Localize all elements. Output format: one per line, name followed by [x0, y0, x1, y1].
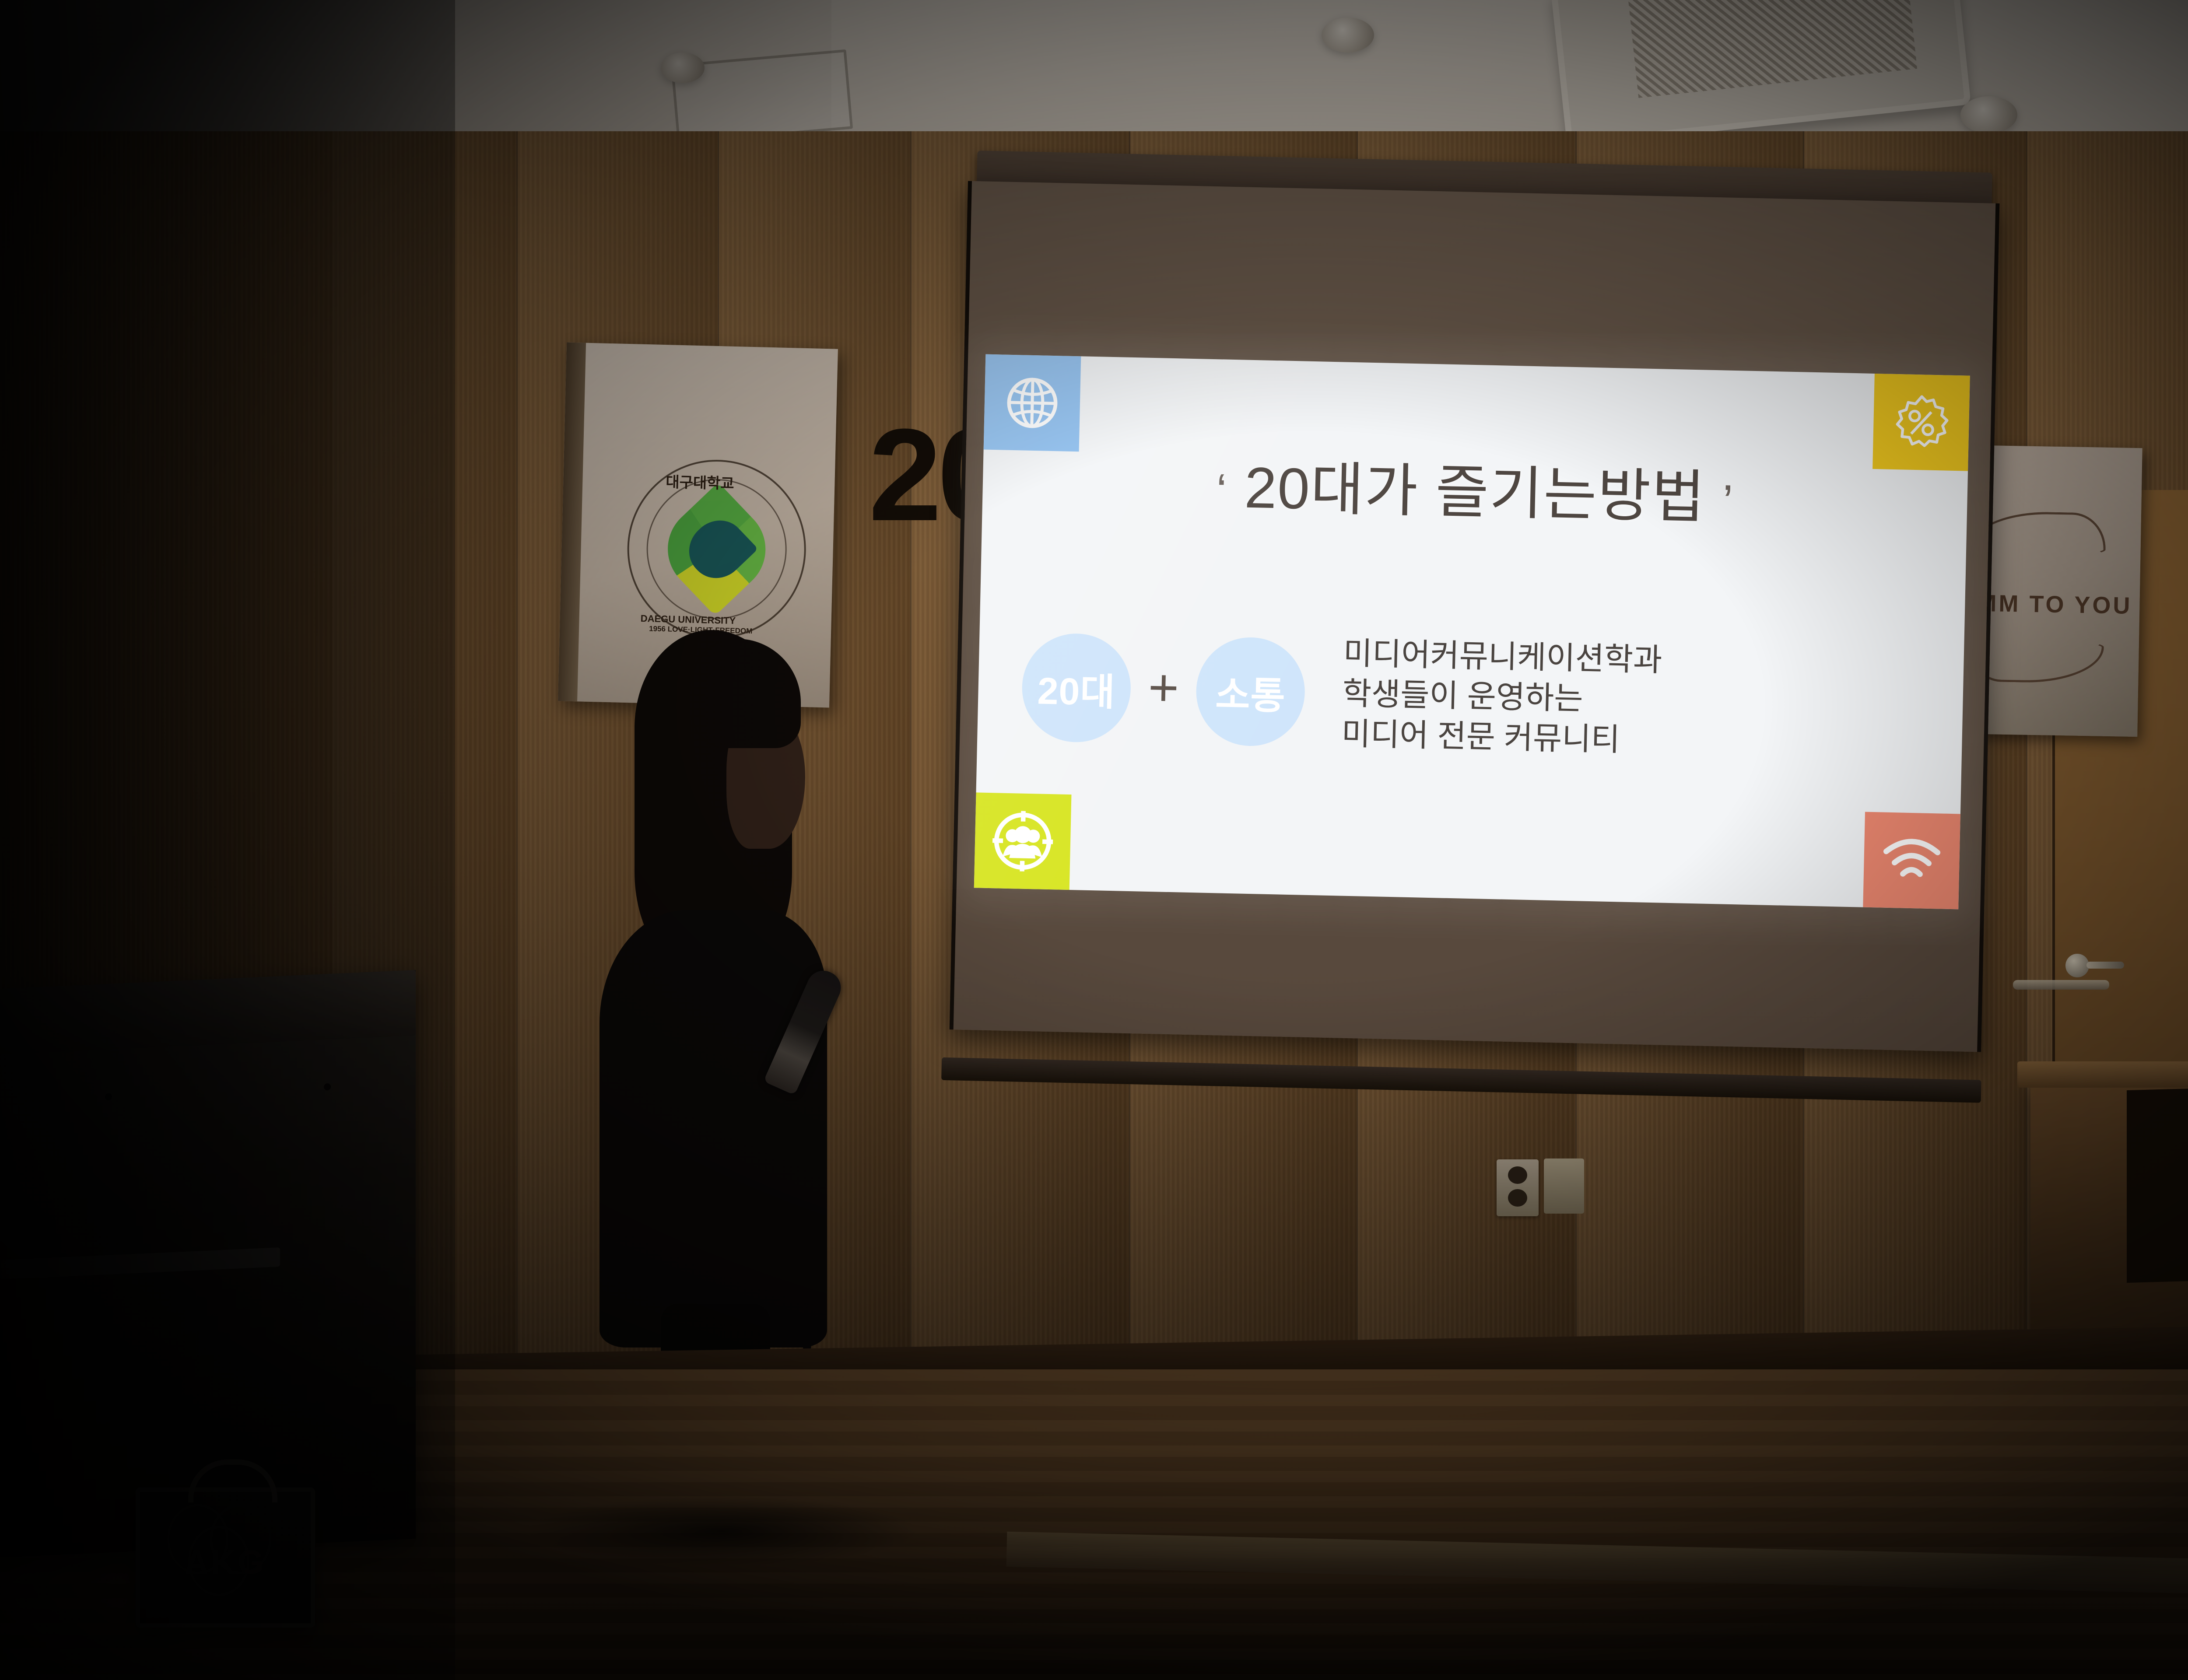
wall-power-outlet[interactable]: [1497, 1159, 1539, 1216]
bubble-twenties: 20대: [1021, 633, 1132, 743]
percent-badge-icon: [1890, 391, 1953, 454]
open-quote: ‘: [1216, 464, 1228, 517]
plus-sign: +: [1148, 661, 1180, 714]
outlet-socket-top: [1508, 1166, 1527, 1184]
slide-corner-bottom-right: [1863, 812, 1960, 910]
screen-surface: ‘ 20대가 즐기는방법 ’ 20대 + 소통 미디어커뮤니케이션학과 학생들이…: [950, 181, 2000, 1052]
presenter-floor-shadow: [525, 1496, 919, 1566]
presenter-bangs: [691, 639, 801, 748]
ceiling-downlight-1: [1322, 17, 1374, 52]
slide-title-text: 20대가 즐기는방법: [1244, 455, 1706, 530]
seal-korean-text: 대구대학교: [666, 470, 735, 493]
university-seal: 대구대학교 DAEGU UNIVERSITY 1956 LOVE·LIGHT·F…: [625, 458, 808, 640]
globe-icon: [1001, 371, 1063, 434]
bubble-communication: 소통: [1195, 637, 1306, 747]
wall-blank-plate: [1544, 1158, 1584, 1214]
ac-vent-grille: [1627, 0, 1917, 98]
projection-screen: ‘ 20대가 즐기는방법 ’ 20대 + 소통 미디어커뮤니케이션학과 학생들이…: [949, 164, 2036, 1092]
projected-slide: ‘ 20대가 즐기는방법 ’ 20대 + 소통 미디어커뮤니케이션학과 학생들이…: [974, 354, 1970, 910]
auditorium-scene: 대구대학교 DAEGU UNIVERSITY 1956 LOVE·LIGHT·F…: [0, 0, 2188, 1680]
slide-title: ‘ 20대가 즐기는방법 ’: [982, 435, 1968, 540]
outlet-socket-bottom: [1508, 1189, 1527, 1207]
left-shadow-overlay: [0, 0, 455, 1680]
slide-content-row: 20대 + 소통 미디어커뮤니케이션학과 학생들이 운영하는 미디어 전문 커뮤…: [1021, 626, 1662, 761]
ceiling-downlight-2: [1960, 96, 2017, 133]
close-quote: ’: [1722, 475, 1735, 528]
group-target-icon: [989, 808, 1056, 875]
seal-text-ring: 대구대학교 DAEGU UNIVERSITY 1956 LOVE·LIGHT·F…: [627, 459, 806, 639]
side-table-top: [2017, 1061, 2188, 1088]
wall-push-bar: [2013, 980, 2109, 990]
side-table-opening: [2127, 1085, 2188, 1283]
slide-corner-bottom-left: [974, 792, 1072, 890]
door-lever-handle[interactable]: [2086, 962, 2124, 969]
side-table: [2030, 1071, 2188, 1349]
wifi-icon: [1880, 834, 1943, 888]
slide-body-text: 미디어커뮤니케이션학과 학생들이 운영하는 미디어 전문 커뮤니티: [1341, 633, 1662, 761]
door-knob-icon[interactable]: [2065, 954, 2089, 977]
